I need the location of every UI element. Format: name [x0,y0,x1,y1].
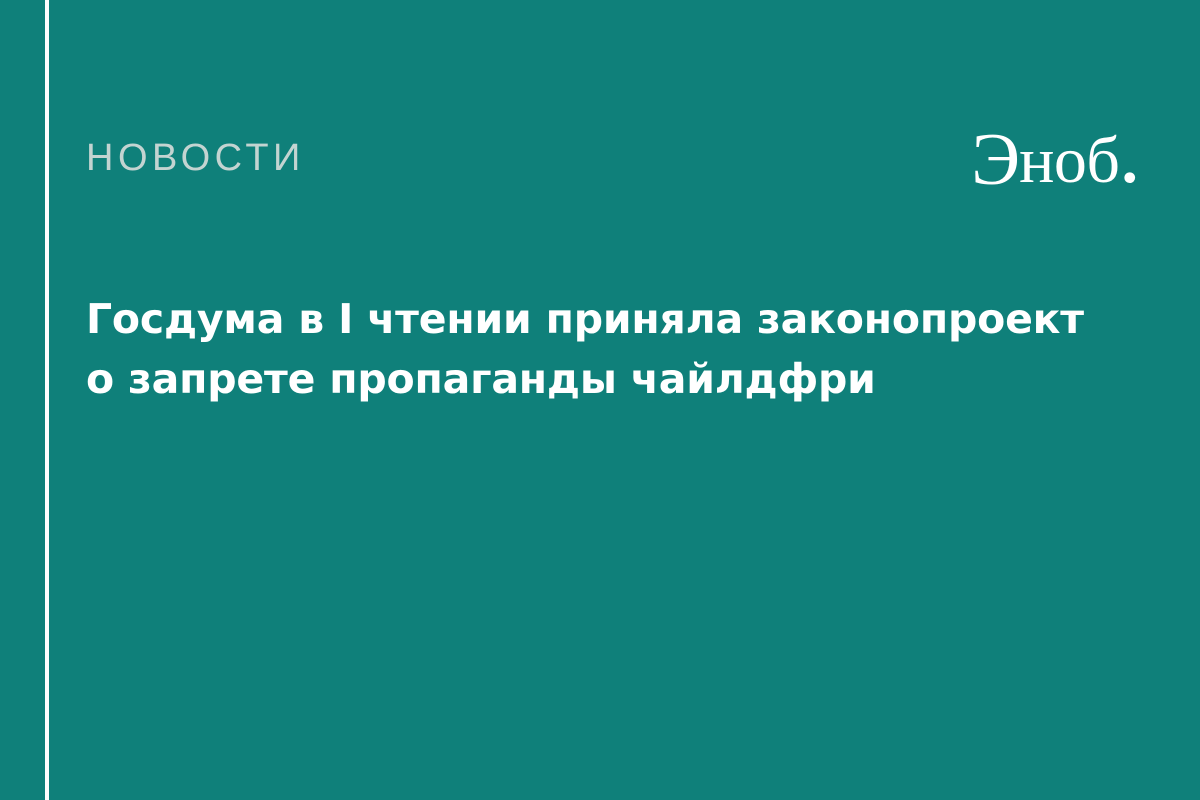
card-header: НОВОСТИ Э ноб . [86,128,1140,188]
left-vertical-rule [45,0,49,800]
left-accent-band [0,0,45,800]
headline-line-2: о запрете пропаганды чайлдфри [86,349,1146,409]
brand-logo[interactable]: Э ноб . [971,121,1138,195]
news-card: НОВОСТИ Э ноб . Госдума в I чтении приня… [0,0,1200,800]
brand-mark-glyph: Э [971,123,1019,197]
brand-wordmark: ноб [1019,128,1119,194]
brand-period-icon: . [1122,128,1139,194]
section-kicker: НОВОСТИ [86,139,305,177]
headline-line-1: Госдума в I чтении приняла законопроект [86,289,1146,349]
headline: Госдума в I чтении приняла законопроект … [86,289,1146,409]
